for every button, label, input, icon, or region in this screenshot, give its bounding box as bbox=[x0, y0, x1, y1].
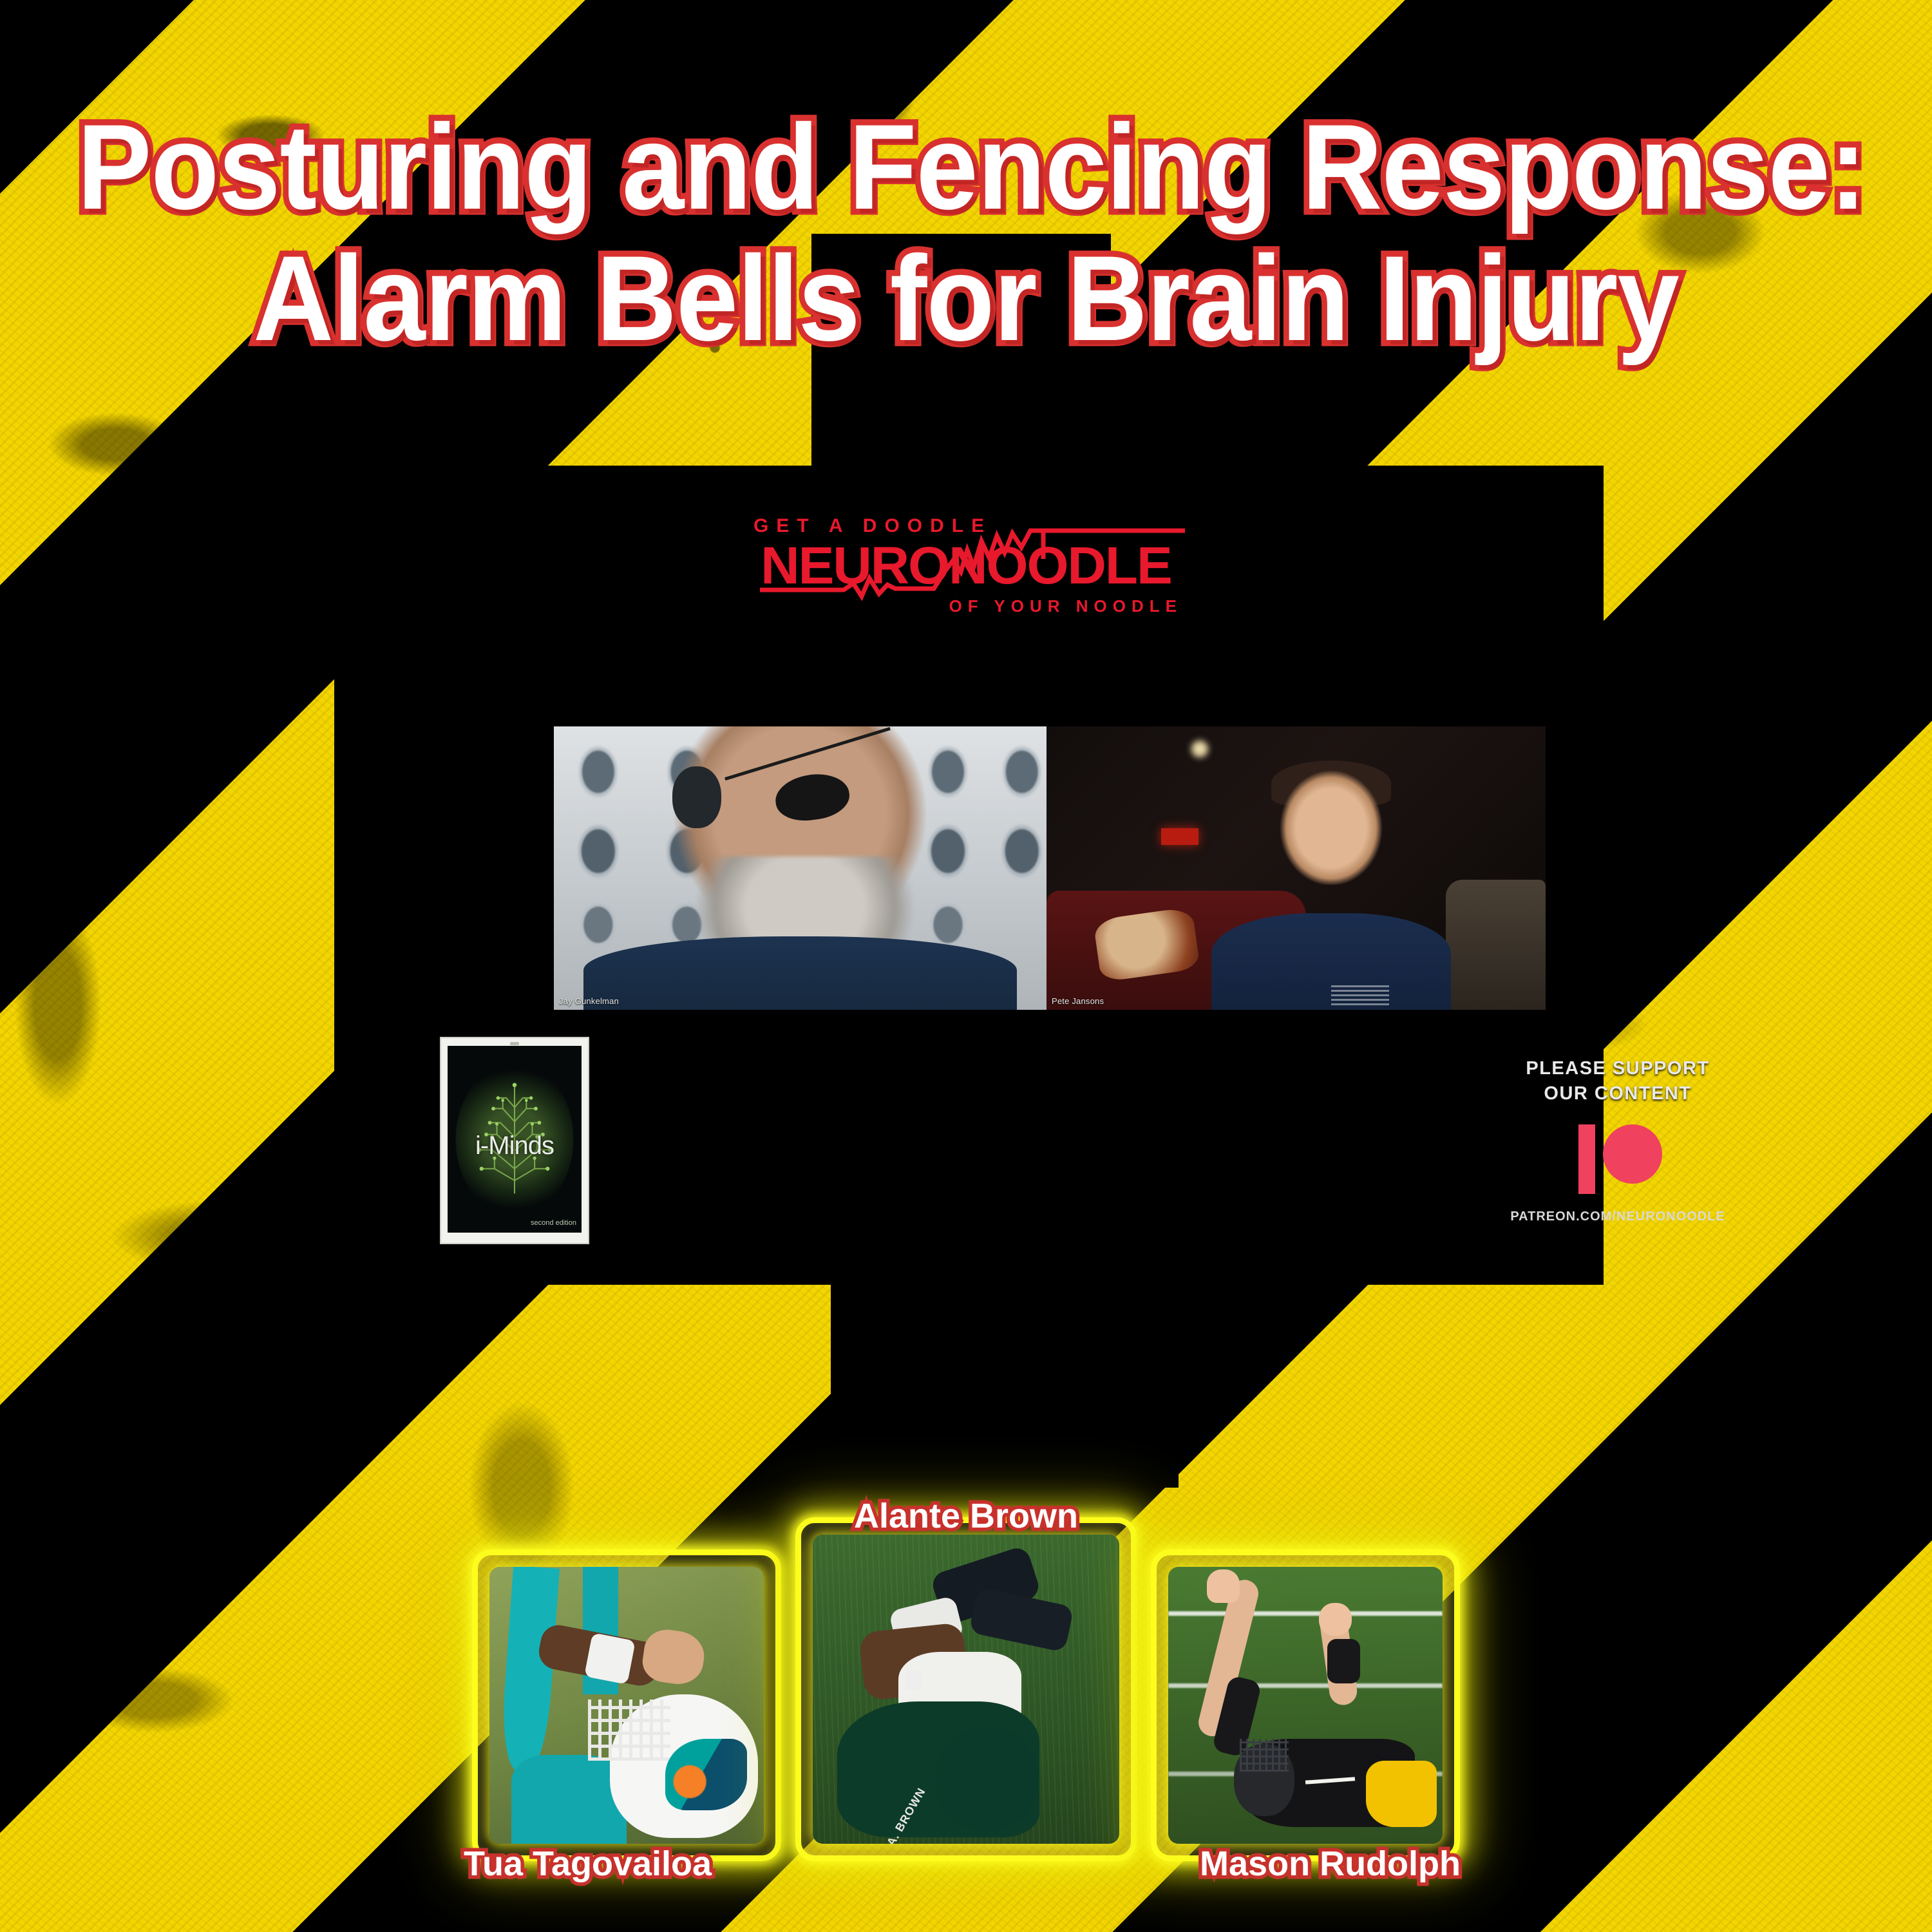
jersey-nameplate: A. BROWN bbox=[884, 1786, 929, 1844]
video-call-grid: Jay Gunkelman Pete Jansons bbox=[554, 726, 1546, 1010]
player-photo-mason bbox=[1168, 1567, 1443, 1844]
participant-head bbox=[1276, 766, 1387, 885]
book-edition: second edition bbox=[531, 1219, 576, 1227]
gold-pants bbox=[1366, 1761, 1437, 1827]
video-name-label-left: Jay Gunkelman bbox=[559, 996, 619, 1006]
participant-shirt bbox=[1211, 913, 1451, 1010]
patreon-dot bbox=[1603, 1124, 1662, 1184]
player-card-label: Mason Rudolph bbox=[1200, 1844, 1461, 1884]
fencing-hand-left bbox=[1207, 1569, 1240, 1603]
green-helmet bbox=[935, 1727, 1039, 1832]
patreon-support-block[interactable]: Please Support our Content PATREON.COM/N… bbox=[1502, 1056, 1734, 1224]
player-card-label: Tua Tagovailoa bbox=[464, 1844, 712, 1884]
ceiling-lamp bbox=[1191, 741, 1208, 757]
title-line-2: Alarm Bells for Brain Injury bbox=[77, 238, 1855, 359]
helmet-facemask bbox=[588, 1700, 670, 1761]
wrist-cuff bbox=[1327, 1639, 1360, 1683]
patreon-logo-icon bbox=[1569, 1121, 1666, 1198]
book-title: i-Minds bbox=[448, 1132, 582, 1160]
headset-icon bbox=[672, 766, 722, 829]
player-card-mason[interactable]: Mason Rudolph bbox=[1151, 1549, 1460, 1861]
teal-pant-leg bbox=[499, 1567, 560, 1773]
title-line-1: Posturing and Fencing Response: bbox=[77, 106, 1855, 227]
player-card-alante[interactable]: A. BROWN Alante Brown bbox=[795, 1517, 1137, 1861]
player-photo-tua bbox=[489, 1567, 764, 1844]
fencing-hand-right bbox=[1319, 1603, 1352, 1636]
logo-wordmark: NEURONOODLE bbox=[741, 538, 1191, 595]
video-name-label-right: Pete Jansons bbox=[1052, 996, 1104, 1006]
patreon-bar bbox=[1578, 1124, 1595, 1194]
thumbnail-canvas: Posturing and Fencing Response: Alarm Be… bbox=[0, 0, 1932, 1932]
player-card-label: Alante Brown bbox=[854, 1496, 1078, 1536]
player-card-row: Tua Tagovailoa A. BROWN Alante Brown bbox=[0, 1517, 1932, 1861]
video-tile-left: Jay Gunkelman bbox=[554, 726, 1046, 1010]
player-card-tua[interactable]: Tua Tagovailoa bbox=[472, 1549, 781, 1861]
teal-shoulder bbox=[511, 1755, 627, 1844]
video-tile-right: Pete Jansons bbox=[1046, 726, 1546, 1010]
logo-name: NEURONOODLE bbox=[736, 538, 1196, 594]
helmet-facemask bbox=[1240, 1739, 1289, 1772]
field-yard-line bbox=[1168, 1611, 1443, 1616]
participant-shirt bbox=[583, 936, 1017, 1010]
jersey-number bbox=[905, 1671, 922, 1690]
patreon-url: PATREON.COM/NEURONOODLE bbox=[1502, 1209, 1734, 1224]
book-cover-art: i-Minds second edition bbox=[448, 1046, 582, 1233]
neuronoodle-logo: GET A DOODLE NEURONOODLE OF YOUR NOODLE bbox=[741, 515, 1191, 616]
armchair bbox=[1446, 880, 1546, 1010]
shirt-logo bbox=[1331, 983, 1389, 1005]
wristband bbox=[584, 1633, 636, 1685]
patreon-line-1: Please Support bbox=[1502, 1056, 1734, 1081]
page-title: Posturing and Fencing Response: Alarm Be… bbox=[0, 106, 1932, 369]
patreon-line-2: our Content bbox=[1502, 1081, 1734, 1106]
dolphins-logo-icon bbox=[665, 1739, 748, 1811]
player-photo-alante: A. BROWN bbox=[813, 1535, 1119, 1844]
exit-sign bbox=[1161, 828, 1198, 845]
book-cover-iminds[interactable]: i-Minds second edition bbox=[441, 1038, 588, 1243]
book-notch bbox=[510, 1042, 519, 1045]
